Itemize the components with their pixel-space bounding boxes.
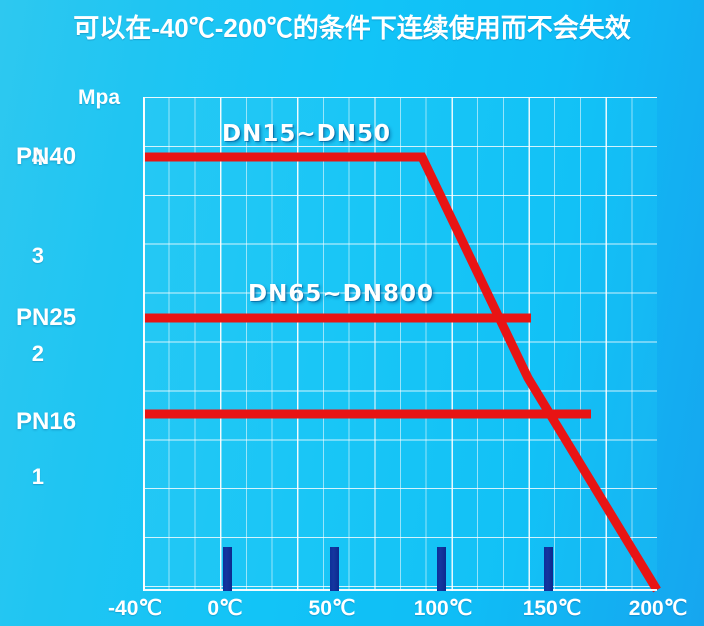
pn-label-pn40: PN40 — [16, 143, 114, 171]
annotation-dn15-dn50: DN15~DN50 — [222, 121, 391, 147]
temperature-marker-bar — [223, 547, 232, 591]
pn-label-pn25: PN25 — [16, 304, 114, 332]
y-tick-3: 3 — [14, 243, 44, 269]
y-tick-1: 1 — [14, 464, 44, 490]
x-tick-minus40: -40℃ — [108, 596, 162, 621]
x-tick-200: 200℃ — [629, 596, 688, 621]
temperature-marker-bar — [330, 547, 339, 591]
x-tick-0: 0℃ — [207, 596, 242, 621]
pn-label-pn16: PN16 — [16, 408, 114, 436]
chart-container: DN15~DN50 DN65~DN800 — [143, 97, 657, 591]
page-title: 可以在-40℃-200℃的条件下连续使用而不会失效 — [0, 8, 704, 45]
plot-frame — [143, 97, 657, 591]
temperature-marker-bar — [544, 547, 553, 591]
annotation-dn65-dn800: DN65~DN800 — [248, 281, 434, 307]
y-tick-2: 2 — [14, 341, 44, 367]
x-tick-50: 50℃ — [309, 596, 356, 621]
x-tick-150: 150℃ — [523, 596, 582, 621]
x-tick-100: 100℃ — [414, 596, 473, 621]
y-axis-unit-label: Mpa — [78, 86, 120, 110]
temperature-marker-bar — [437, 547, 446, 591]
